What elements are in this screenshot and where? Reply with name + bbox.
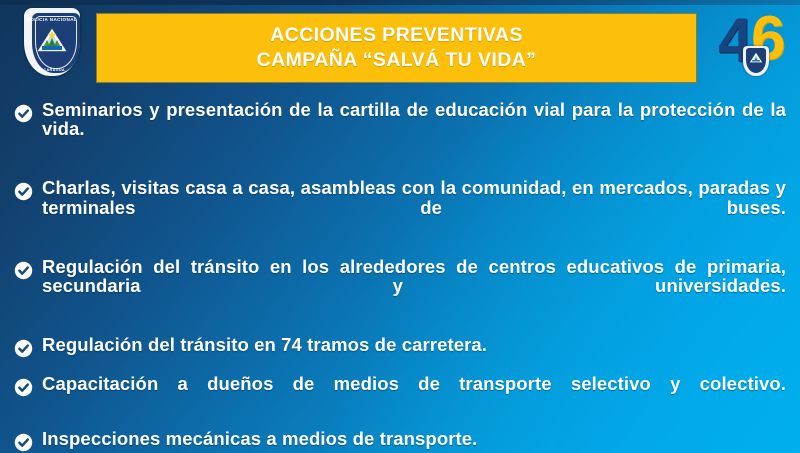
check-circle-icon — [14, 339, 33, 358]
list-item: Inspecciones mecánicas a medios de trans… — [14, 429, 786, 452]
check-circle-icon — [14, 378, 33, 397]
top-accent-strip — [0, 0, 800, 5]
anniversary-mini-badge-icon — [743, 46, 769, 76]
list-item-label: Charlas, visitas casa a casa, asambleas … — [42, 178, 786, 236]
preventive-actions-list: Seminarios y presentación de la cartilla… — [14, 100, 786, 453]
anniversary-46-logo: 4 6 — [718, 8, 794, 86]
list-item: Charlas, visitas casa a casa, asambleas … — [14, 178, 786, 236]
nicaragua-coat-of-arms-icon — [36, 26, 68, 56]
policia-nacional-badge: POLICIA NACIONAL NICARAGUA — [20, 6, 84, 82]
badge-top-text: POLICIA NACIONAL — [20, 17, 84, 22]
list-item-label: Regulación del tránsito en los alrededor… — [42, 257, 786, 315]
check-circle-icon — [14, 433, 33, 452]
list-item: Capacitación a dueños de medios de trans… — [14, 374, 786, 413]
check-circle-icon — [14, 182, 33, 201]
anniversary-mini-coat-of-arms-icon — [749, 51, 763, 65]
list-item: Regulación del tránsito en 74 tramos de … — [14, 335, 786, 358]
header-banner: ACCIONES PREVENTIVAS CAMPAÑA “SALVÁ TU V… — [96, 13, 697, 83]
list-item-label: Seminarios y presentación de la cartilla… — [42, 100, 786, 158]
list-item: Seminarios y presentación de la cartilla… — [14, 100, 786, 158]
badge-bottom-text: NICARAGUA — [20, 68, 84, 72]
presentation-slide: POLICIA NACIONAL NICARAGUA ACCIONES PREV… — [0, 0, 800, 453]
list-item-label: Capacitación a dueños de medios de trans… — [42, 374, 786, 413]
check-circle-icon — [14, 104, 33, 123]
check-circle-icon — [14, 261, 33, 280]
header-title-line-1: ACCIONES PREVENTIVAS — [270, 23, 523, 48]
header-title-line-2: CAMPAÑA “SALVÁ TU VIDA” — [257, 48, 537, 73]
list-item: Regulación del tránsito en los alrededor… — [14, 257, 786, 315]
list-item-label: Regulación del tránsito en 74 tramos de … — [42, 335, 786, 354]
list-item-label: Inspecciones mecánicas a medios de trans… — [42, 429, 786, 448]
